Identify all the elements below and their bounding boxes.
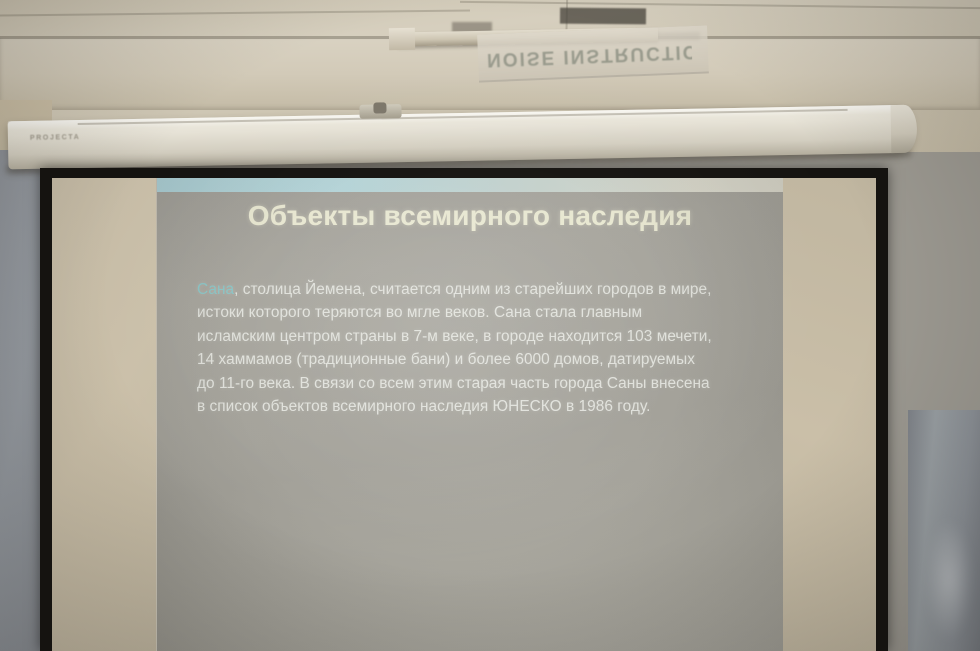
slide-body-line-5: до 11-го века. В связи со всем этим стар… [197,375,710,392]
slide-accent-word: Сана [197,281,234,298]
screen-unlit-right-margin [782,178,876,651]
slide-body-line-4: 14 хаммамов (традиционные бани) и более … [197,351,695,368]
projected-slide: Объекты всемирного наследия Сана, столиц… [157,178,783,651]
slide-top-accent-band [157,178,783,192]
ceiling-mount-bracket [389,28,415,50]
slide-title: Объекты всемирного наследия [157,200,783,232]
right-wall-upper-band [908,120,980,416]
slide-body-line-1: , столица Йемена, считается одним из ста… [234,281,711,298]
right-wall-reflection [926,520,972,640]
slide-body-text: Сана, столица Йемена, считается одним из… [197,278,765,418]
slide-body-line-3: исламским центром страны в 7-м веке, в г… [197,328,712,345]
screen-unlit-left-margin [52,178,156,651]
ceiling-recess-slot [560,8,646,25]
slide-body-line-6: в список объектов всемирного наследия ЮН… [197,398,650,415]
roller-bracket-bolt [373,102,386,113]
roller-end-cap [890,105,917,153]
classroom-photo-scene: NOISE INSTRUCTION PROJECTA Объекты всеми… [0,0,980,651]
roller-brand-label: PROJECTA [30,134,81,142]
slide-body-line-2: истоки которого теряются во мгле веков. … [197,304,642,321]
